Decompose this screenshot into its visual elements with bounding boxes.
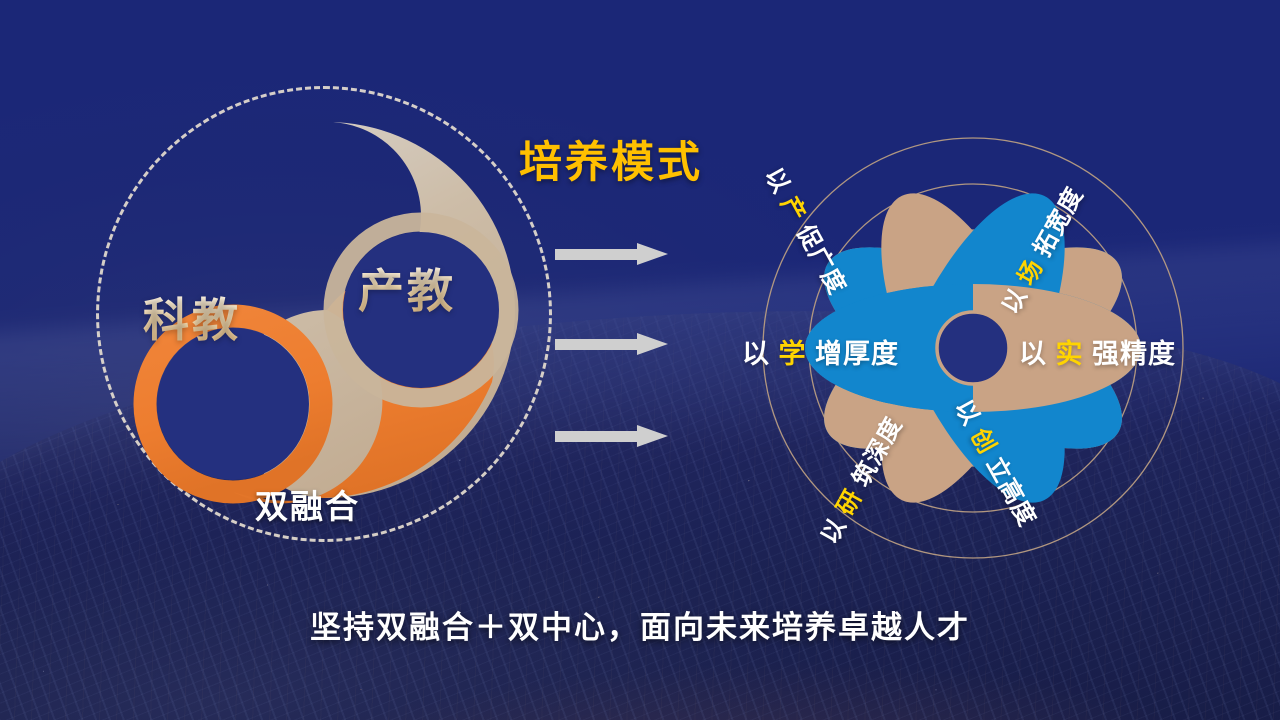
arrow-head bbox=[637, 425, 668, 447]
arrow-shaft bbox=[555, 431, 639, 442]
arrow-right-icon-3 bbox=[555, 425, 668, 447]
slide-canvas: 科教 产教 双融合 培养模式 bbox=[0, 0, 1280, 720]
petal-prefix: 以 bbox=[1019, 339, 1047, 369]
petal-suffix: 增厚度 bbox=[815, 339, 899, 369]
arrow-right-icon-1 bbox=[555, 243, 668, 265]
petal-prefix: 以 bbox=[742, 339, 770, 369]
petal-keyword: 学 bbox=[779, 339, 807, 369]
taiji-left-disc bbox=[157, 328, 309, 480]
taiji-caption-shuangronghe: 双融合 bbox=[255, 480, 360, 528]
slide-caption: 坚持双融合＋双中心，面向未来培养卓越人才 bbox=[0, 602, 1280, 647]
arrow-right-icon-2 bbox=[555, 333, 668, 355]
flower-center-circle bbox=[937, 312, 1009, 384]
taiji-label-chanjiao: 产教 bbox=[358, 255, 456, 321]
petal-label-left: 以 学 增厚度 bbox=[742, 332, 899, 371]
petal-keyword: 实 bbox=[1056, 339, 1084, 369]
arrow-head bbox=[637, 333, 668, 355]
flower-diagram: 以 产 促广度 以 场 拓宽度 以 实 强精度 以 创 立高度 以 研 筑深度 … bbox=[693, 92, 1253, 604]
arrow-head bbox=[637, 243, 668, 265]
arrow-shaft bbox=[555, 249, 639, 260]
taiji-label-kejiao: 科教 bbox=[143, 284, 241, 350]
petal-suffix: 强精度 bbox=[1092, 339, 1176, 369]
arrow-shaft bbox=[555, 339, 639, 350]
page-title: 培养模式 bbox=[519, 128, 703, 190]
petal-label-right: 以 实 强精度 bbox=[1019, 332, 1176, 371]
